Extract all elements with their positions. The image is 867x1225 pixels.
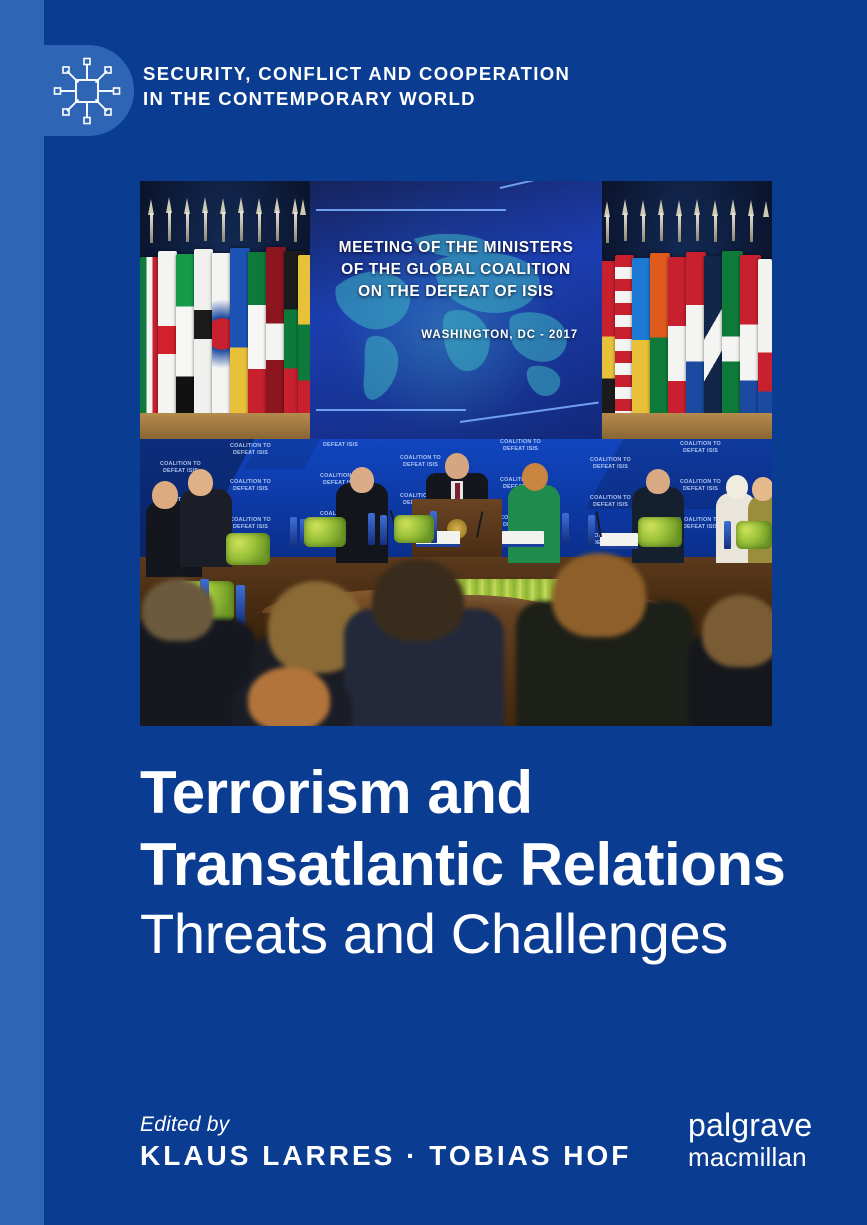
publisher-logo: palgrave macmillan (688, 1108, 812, 1172)
water-bottle (562, 513, 569, 543)
delegate-head (752, 477, 772, 501)
name-placard (600, 533, 638, 549)
flag (176, 254, 195, 429)
network-nodes-icon (49, 53, 125, 129)
projection-screen: MEETING OF THE MINISTERS OF THE GLOBAL C… (310, 181, 602, 439)
water-bottle (588, 515, 595, 545)
left-accent-stripe (0, 0, 44, 1225)
editor-names: KLAUS LARRES · TOBIAS HOF (140, 1137, 631, 1175)
backdrop-mark: COALITION TODEFEAT ISIS (680, 517, 721, 530)
water-bottle (380, 515, 387, 545)
delegate-head (726, 475, 748, 499)
publisher-name-bottom: macmillan (688, 1142, 812, 1172)
backdrop-mark: COALITION TODEFEAT ISIS (500, 439, 541, 452)
backdrop-mark: COALITION TODEFEAT ISIS (590, 495, 631, 508)
series-title: SECURITY, CONFLICT AND COOPERATION IN TH… (143, 61, 613, 111)
flag (758, 259, 772, 429)
editors-block: Edited by KLAUS LARRES · TOBIAS HOF (140, 1113, 631, 1175)
name-placard (502, 531, 544, 547)
delegate-head (350, 467, 374, 493)
backdrop-mark: COALITION TODEFEAT ISIS (680, 441, 721, 454)
speaker-head (445, 453, 469, 479)
delegate-body (180, 489, 232, 567)
screen-location-year: WASHINGTON, DC - 2017 (421, 329, 578, 341)
series-title-line2: IN THE CONTEMPORARY WORLD (143, 86, 613, 111)
floral-arrangement (394, 515, 434, 543)
screen-headline: MEETING OF THE MINISTERS OF THE GLOBAL C… (310, 237, 602, 303)
water-bottle (368, 513, 375, 545)
edited-by-label: Edited by (140, 1113, 631, 1137)
flag (140, 257, 159, 429)
flag (632, 258, 652, 429)
delegate-head (646, 469, 670, 494)
delegate-head (188, 469, 213, 496)
flag (686, 252, 706, 429)
floral-arrangement (736, 521, 772, 549)
floral-arrangement (304, 517, 346, 547)
floral-arrangement (638, 517, 682, 547)
flag (650, 253, 670, 429)
delegate-head (522, 463, 548, 491)
series-title-line1: SECURITY, CONFLICT AND COOPERATION (143, 61, 613, 86)
cover-photograph: MEETING OF THE MINISTERS OF THE GLOBAL C… (140, 181, 772, 726)
backdrop-mark: COALITION TODEFEAT ISIS (590, 457, 631, 470)
flag (248, 252, 268, 429)
backdrop-mark: COALITION TODEFEAT ISIS (230, 443, 271, 456)
water-bottle (236, 585, 245, 625)
publisher-name-top: palgrave (688, 1108, 812, 1142)
delegate-head (152, 481, 178, 509)
screen-headline-line2: OF THE GLOBAL COALITION (310, 259, 602, 281)
water-bottle (724, 521, 731, 549)
screen-headline-line1: MEETING OF THE MINISTERS (310, 237, 602, 259)
flag-wall-left (140, 181, 311, 439)
page-title-line1: Terrorism and (140, 757, 830, 829)
delegate-body (508, 485, 560, 563)
backdrop-mark: COALITION TODEFEAT ISIS (230, 479, 271, 492)
flag (194, 249, 213, 429)
flag (230, 248, 250, 429)
flag (266, 247, 286, 429)
page-subtitle: Threats and Challenges (140, 899, 830, 969)
flag-wall-right (598, 181, 772, 439)
page-title-line2: Transatlantic Relations (140, 829, 830, 901)
book-cover: SECURITY, CONFLICT AND COOPERATION IN TH… (0, 0, 867, 1225)
backdrop-mark: COALITION TODEFEAT ISIS (680, 479, 721, 492)
flag (158, 251, 177, 429)
backdrop-mark: COALITION TODEFEAT ISIS (320, 439, 361, 448)
flag (668, 257, 688, 429)
floral-arrangement (226, 533, 270, 565)
backdrop-mark: COALITION TODEFEAT ISIS (400, 455, 441, 468)
water-bottle (290, 517, 297, 547)
screen-headline-line3: ON THE DEFEAT OF ISIS (310, 281, 602, 303)
backdrop-mark: COALITION TODEFEAT ISIS (230, 517, 271, 530)
title-block: Terrorism and Transatlantic Relations Th… (140, 757, 830, 969)
flag (212, 253, 232, 429)
